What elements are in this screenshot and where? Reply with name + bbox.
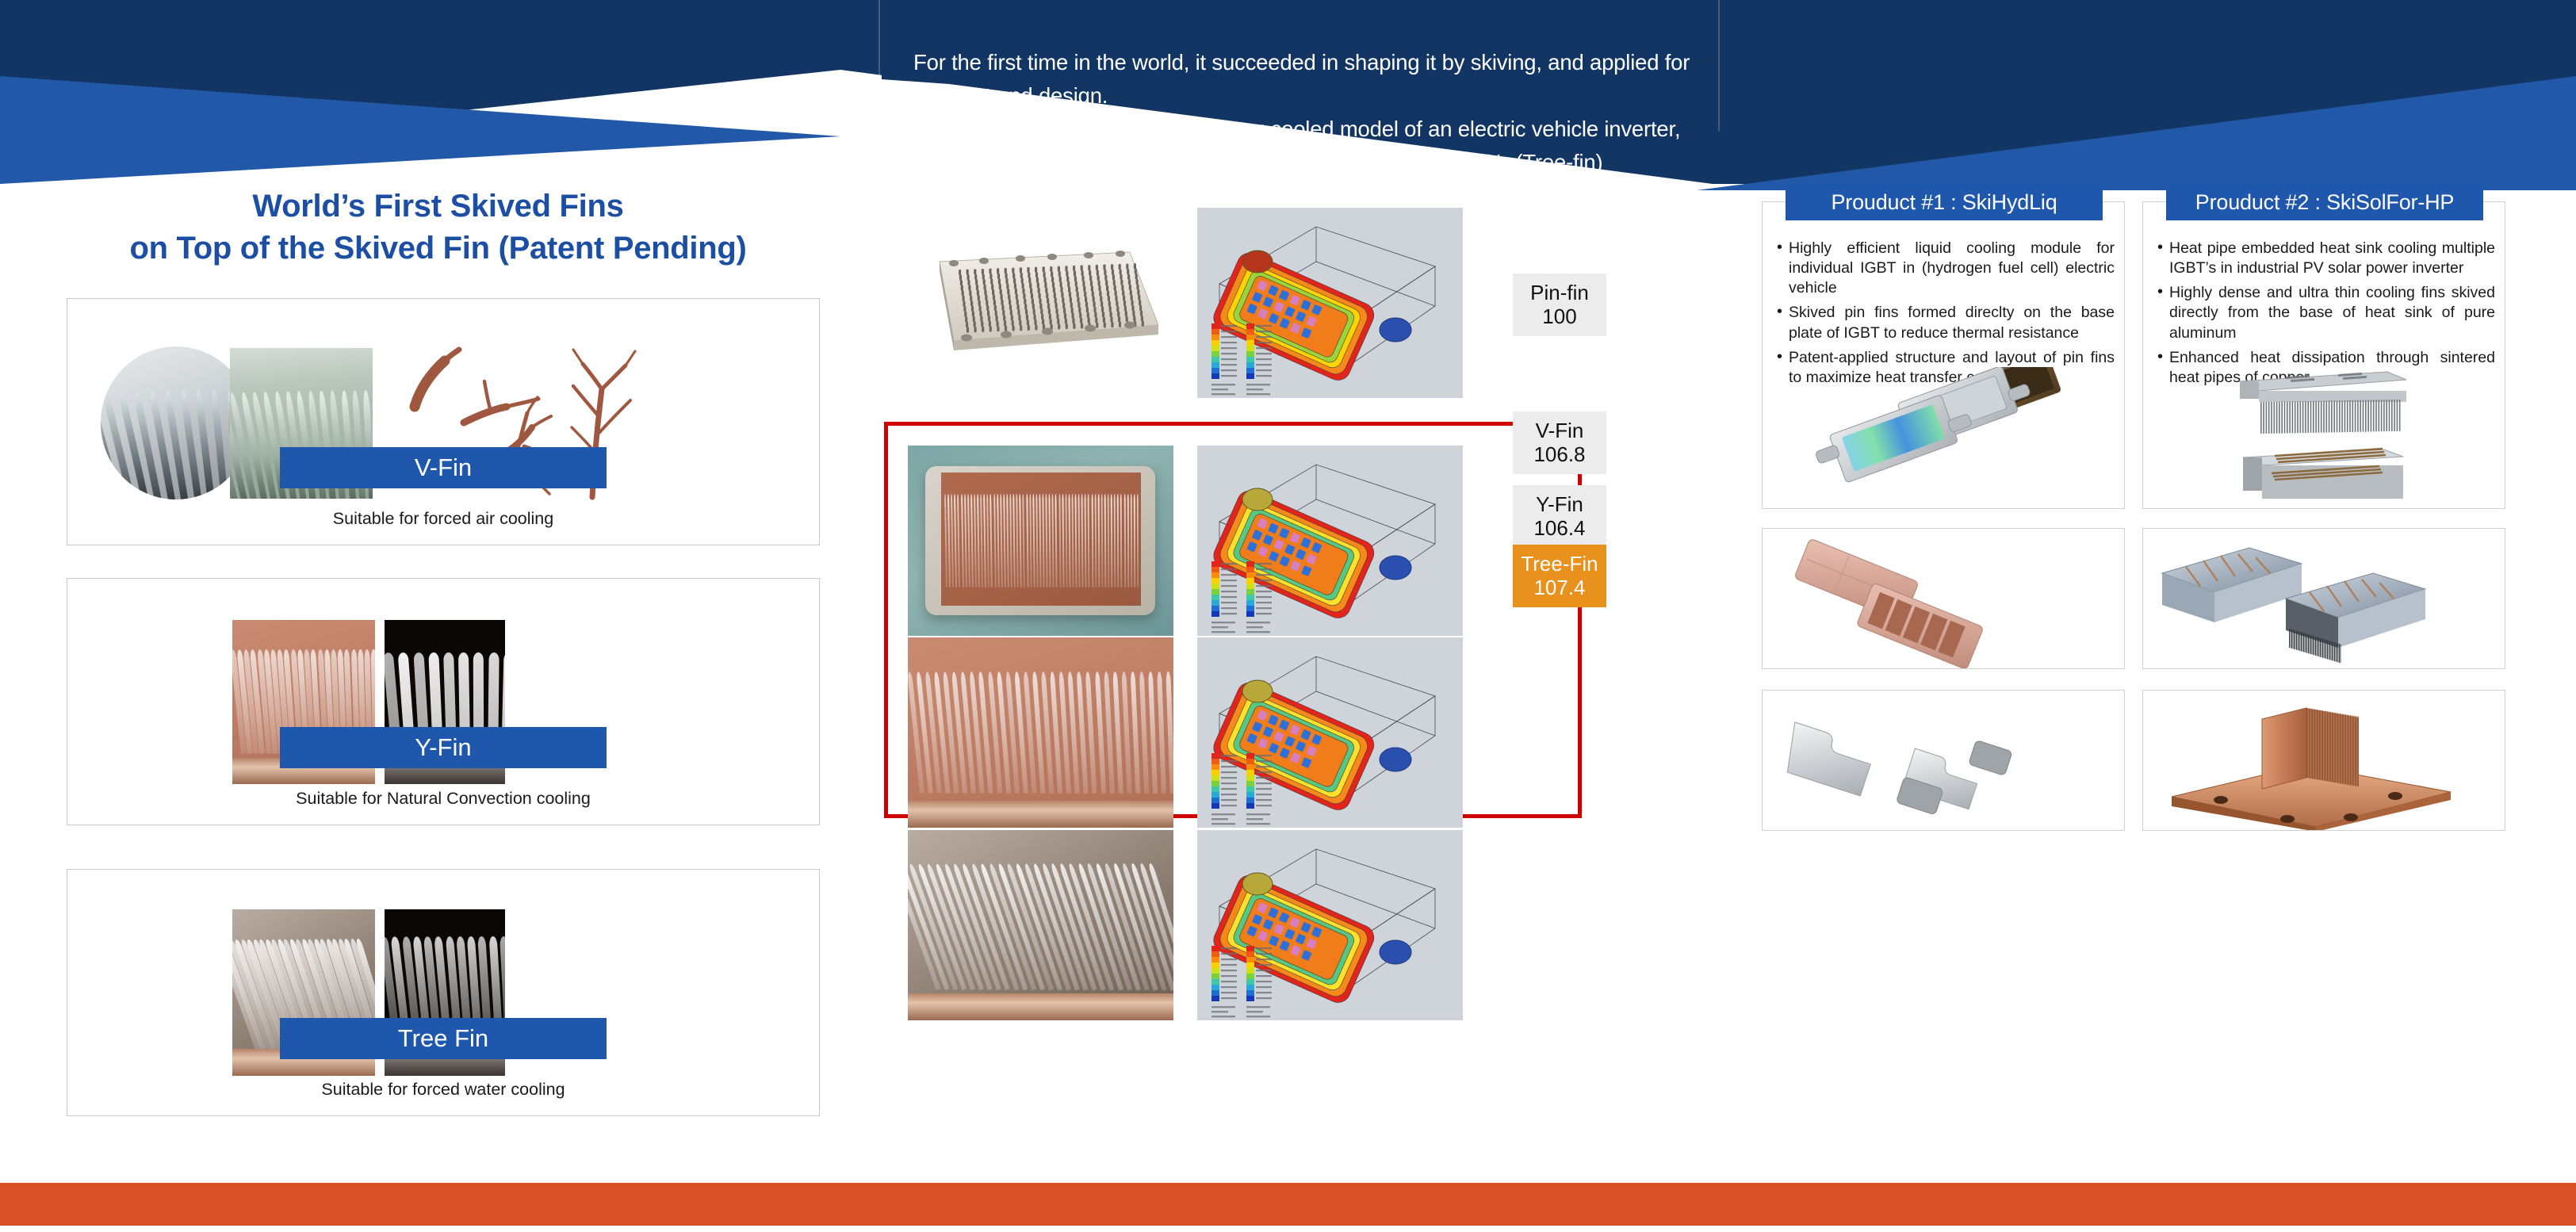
fin-caption-tree-fin: Suitable for forced water cooling xyxy=(67,1080,820,1100)
v-fin-product-photo xyxy=(908,446,1173,636)
product-1-image-card-2 xyxy=(1762,690,2125,831)
product-1-card: Highly efficient liquid cooling module f… xyxy=(1762,201,2125,509)
comparison-row-v-fin xyxy=(908,446,1558,636)
header-divider-right xyxy=(1718,0,1720,132)
metric-y-fin: Y-Fin 106.4 xyxy=(1513,485,1606,548)
fin-badge-y-fin: Y-Fin xyxy=(280,727,607,768)
list-item: Skived pin fins formed direclty on the b… xyxy=(1775,303,2115,342)
metric-pin-fin: Pin-fin 100 xyxy=(1513,274,1606,336)
fin-badge-v-fin: V-Fin xyxy=(280,447,607,488)
slide-root: For the first time in the world, it succ… xyxy=(0,0,2576,1232)
product-2-image-card-1 xyxy=(2142,528,2505,669)
metric-v-fin-text: V-Fin 106.8 xyxy=(1533,419,1585,466)
v-fin-macro-photo xyxy=(101,346,251,499)
product-1-image-card-1 xyxy=(1762,528,2125,669)
tree-fin-product-photo xyxy=(908,830,1173,1020)
product-1-hero-image xyxy=(1774,367,2115,503)
metric-tree-fin-text: Tree-Fin 107.4 xyxy=(1521,552,1598,599)
y-fin-cfd-simulation xyxy=(1197,637,1463,828)
aluminum-puzzle-plates-image xyxy=(1763,691,2125,831)
pin-fin-product-photo xyxy=(908,208,1173,398)
left-column: World’s First Skived Fins on Top of the … xyxy=(0,171,876,1178)
list-item: Heat pipe embedded heat sink cooling mul… xyxy=(2156,239,2495,278)
header-divider-left xyxy=(878,0,880,143)
pin-fin-cfd-simulation xyxy=(1197,208,1463,398)
tree-fin-cfd-simulation xyxy=(1197,830,1463,1020)
copper-coldplate-pair-image xyxy=(1763,529,2125,669)
metric-v-fin: V-Fin 106.8 xyxy=(1513,411,1606,474)
list-item: Highly dense and ultra thin cooling fins… xyxy=(2156,283,2495,342)
metric-y-fin-text: Y-Fin 106.4 xyxy=(1533,492,1585,540)
header-paragraph: For the first time in the world, it succ… xyxy=(913,46,1690,179)
product-2-hero-image xyxy=(2154,367,2495,503)
fin-caption-y-fin: Suitable for Natural Convection cooling xyxy=(67,789,820,809)
list-item: Highly efficient liquid cooling module f… xyxy=(1775,239,2115,298)
aluminum-heatpipe-blocks-image xyxy=(2143,529,2505,669)
page-title: World’s First Skived Fins on Top of the … xyxy=(0,186,876,270)
copper-skived-fin-tower-image xyxy=(2143,691,2505,831)
fin-badge-tree-fin: Tree Fin xyxy=(280,1018,607,1059)
metric-tree-fin: Tree-Fin 107.4 xyxy=(1513,545,1606,607)
product-1-badge: Prouduct #1 : SkiHydLiq xyxy=(1786,184,2103,220)
v-fin-cfd-simulation xyxy=(1197,446,1463,636)
comparison-row-y-fin xyxy=(908,637,1558,828)
y-fin-product-photo xyxy=(908,637,1173,828)
right-column: Highly efficient liquid cooling module f… xyxy=(1744,184,2576,1183)
product-2-image-card-2 xyxy=(2142,690,2505,831)
footer-accent-bar xyxy=(0,1183,2576,1226)
comparison-row-pin-fin xyxy=(908,208,1558,398)
product-2-badge: Prouduct #2 : SkiSolFor-HP xyxy=(2166,184,2483,220)
product-2-card: Heat pipe embedded heat sink cooling mul… xyxy=(2142,201,2505,509)
metric-pin-fin-text: Pin-fin 100 xyxy=(1530,281,1589,328)
fin-caption-v-fin: Suitable for forced air cooling xyxy=(67,509,820,529)
center-column: Pin-fin 100 V-Fin 106.8 Y-Fin 106.4 Tree… xyxy=(876,184,1744,1183)
comparison-row-tree-fin xyxy=(908,830,1558,1020)
